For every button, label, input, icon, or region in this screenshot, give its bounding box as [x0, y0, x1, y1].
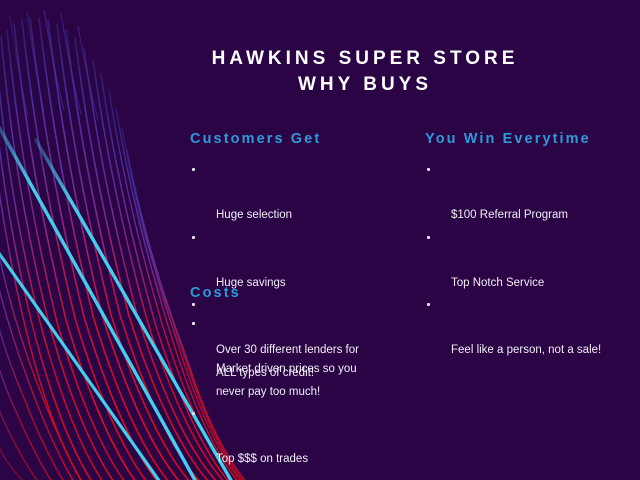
bullet-dot-icon	[192, 303, 195, 306]
presentation-slide: HAWKINS SUPER STORE WHY BUYS Customers G…	[0, 0, 640, 480]
list-item: Huge selection	[190, 159, 395, 227]
bullet-dot-icon	[427, 168, 430, 171]
section-heading-costs: Costs	[190, 285, 241, 301]
bullet-dot-icon	[427, 236, 430, 239]
bullet-list-costs: Market driven prices so you never pay to…	[190, 313, 395, 480]
list-item-label: Market driven prices so you never pay to…	[216, 363, 357, 398]
list-item: Top $$$ on trades	[190, 403, 395, 471]
bullet-dot-icon	[192, 412, 195, 415]
list-item: Free trade appraisals	[190, 471, 395, 480]
bullet-dot-icon	[192, 236, 195, 239]
section-heading-customers-get: Customers Get	[190, 131, 321, 147]
list-item-label: Feel like a person, not a sale!	[451, 344, 601, 356]
list-item: Market driven prices so you never pay to…	[190, 313, 395, 403]
page-title: HAWKINS SUPER STORE WHY BUYS	[150, 46, 580, 98]
list-item-label: $100 Referral Program	[451, 209, 568, 221]
list-item: Feel like a person, not a sale!	[425, 294, 625, 362]
bullet-dot-icon	[192, 168, 195, 171]
list-item: Huge savings	[190, 227, 395, 295]
list-item: $100 Referral Program	[425, 159, 625, 227]
bullet-dot-icon	[427, 303, 430, 306]
list-item-label: Top $$$ on trades	[216, 453, 308, 465]
list-item: Top Notch Service	[425, 227, 625, 295]
section-heading-you-win-everytime: You Win Everytime	[425, 131, 591, 147]
bullet-dot-icon	[192, 322, 195, 325]
list-item-label: Huge selection	[216, 209, 292, 221]
bullet-list-you-win-everytime: $100 Referral Program Top Notch Service …	[425, 159, 625, 362]
list-item-label: Top Notch Service	[451, 277, 544, 289]
